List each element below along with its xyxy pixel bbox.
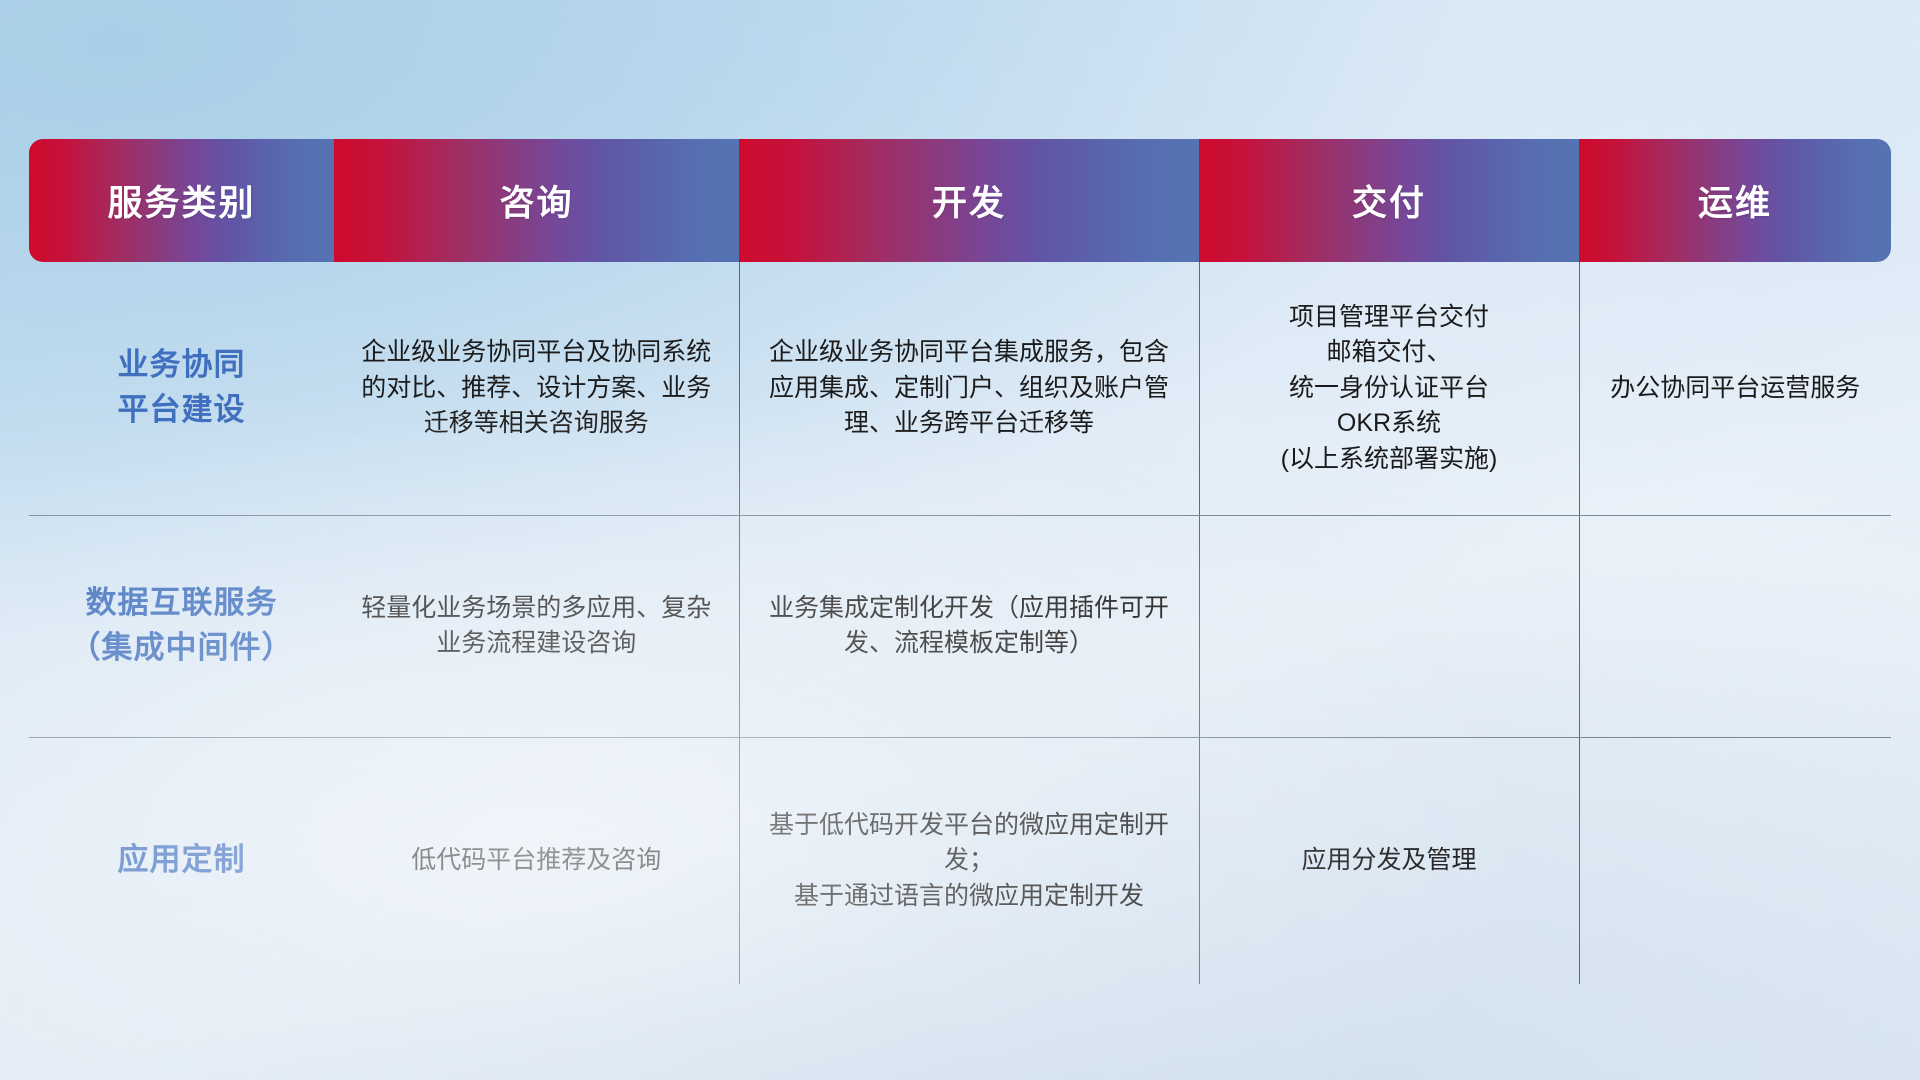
cell-text-line: 基于通过语言的微应用定制开发	[758, 879, 1181, 915]
cell-consulting: 企业级业务协同平台及协同系统的对比、推荐、设计方案、业务迁移等相关咨询服务	[334, 262, 739, 515]
header-label-category: 服务类别	[29, 175, 334, 226]
cell-delivery: 项目管理平台交付邮箱交付、统一身份认证平台OKR系统(以上系统部署实施)	[1199, 262, 1579, 515]
cell-text-line: 平台建设	[47, 388, 316, 433]
cell-text-line: 邮箱交付、	[1218, 335, 1561, 371]
cell-operations	[1579, 515, 1891, 737]
cell-development: 企业级业务协同平台集成服务，包含应用集成、定制门户、组织及账户管理、业务跨平台迁…	[739, 262, 1199, 515]
cell-text-line: 数据互联服务	[47, 581, 316, 626]
cell-text-line: 项目管理平台交付	[1218, 300, 1561, 336]
cell-text-line: 轻量化业务场景的多应用、复杂业务流程建设咨询	[352, 591, 721, 662]
cell-development: 基于低代码开发平台的微应用定制开发；基于通过语言的微应用定制开发	[739, 737, 1199, 984]
cell-operations: 办公协同平台运营服务	[1579, 262, 1891, 515]
cell-text-line: （集成中间件）	[47, 626, 316, 671]
cell-text-line: 统一身份认证平台	[1218, 371, 1561, 407]
cell-text-line: 业务集成定制化开发（应用插件可开发、流程模板定制等）	[758, 591, 1181, 662]
cell-category: 应用定制	[29, 737, 334, 984]
table-header: 服务类别 咨询 开发 交付	[29, 139, 1891, 262]
header-label-consulting: 咨询	[334, 175, 739, 226]
header-cell-delivery: 交付	[1199, 139, 1579, 262]
cell-text-line: 办公协同平台运营服务	[1598, 371, 1874, 407]
cell-consulting: 低代码平台推荐及咨询	[334, 737, 739, 984]
cell-text-line: 企业级业务协同平台及协同系统的对比、推荐、设计方案、业务迁移等相关咨询服务	[352, 335, 721, 442]
header-label-development: 开发	[739, 175, 1199, 226]
cell-category: 业务协同平台建设	[29, 262, 334, 515]
services-table: 服务类别 咨询 开发 交付	[29, 139, 1891, 984]
service-matrix-table: 服务类别 咨询 开发 交付	[29, 139, 1891, 961]
header-label-delivery: 交付	[1199, 175, 1579, 226]
header-cell-operations: 运维	[1579, 139, 1891, 262]
cell-text-line: 业务协同	[47, 343, 316, 388]
cell-text-line: OKR系统	[1218, 406, 1561, 442]
header-label-operations: 运维	[1579, 175, 1891, 226]
cell-category: 数据互联服务（集成中间件）	[29, 515, 334, 737]
cell-text-line: 低代码平台推荐及咨询	[352, 843, 721, 879]
header-cell-category: 服务类别	[29, 139, 334, 262]
table-row: 业务协同平台建设 企业级业务协同平台及协同系统的对比、推荐、设计方案、业务迁移等…	[29, 262, 1891, 515]
table-row: 应用定制 低代码平台推荐及咨询 基于低代码开发平台的微应用定制开发；基于通过语言…	[29, 737, 1891, 984]
cell-text-line: 应用分发及管理	[1218, 843, 1561, 879]
table-body: 业务协同平台建设 企业级业务协同平台及协同系统的对比、推荐、设计方案、业务迁移等…	[29, 262, 1891, 984]
cell-text-line: 企业级业务协同平台集成服务，包含应用集成、定制门户、组织及账户管理、业务跨平台迁…	[758, 335, 1181, 442]
cell-development: 业务集成定制化开发（应用插件可开发、流程模板定制等）	[739, 515, 1199, 737]
cell-operations	[1579, 737, 1891, 984]
cell-delivery: 应用分发及管理	[1199, 737, 1579, 984]
cell-delivery	[1199, 515, 1579, 737]
cell-consulting: 轻量化业务场景的多应用、复杂业务流程建设咨询	[334, 515, 739, 737]
header-row: 服务类别 咨询 开发 交付	[29, 139, 1891, 262]
page-canvas: 服务类别 咨询 开发 交付	[0, 0, 1920, 1080]
cell-text-line: 基于低代码开发平台的微应用定制开发；	[758, 808, 1181, 879]
table-row: 数据互联服务（集成中间件） 轻量化业务场景的多应用、复杂业务流程建设咨询 业务集…	[29, 515, 1891, 737]
header-cell-development: 开发	[739, 139, 1199, 262]
cell-text-line: 应用定制	[47, 838, 316, 883]
header-cell-consulting: 咨询	[334, 139, 739, 262]
cell-text-line: (以上系统部署实施)	[1218, 442, 1561, 478]
